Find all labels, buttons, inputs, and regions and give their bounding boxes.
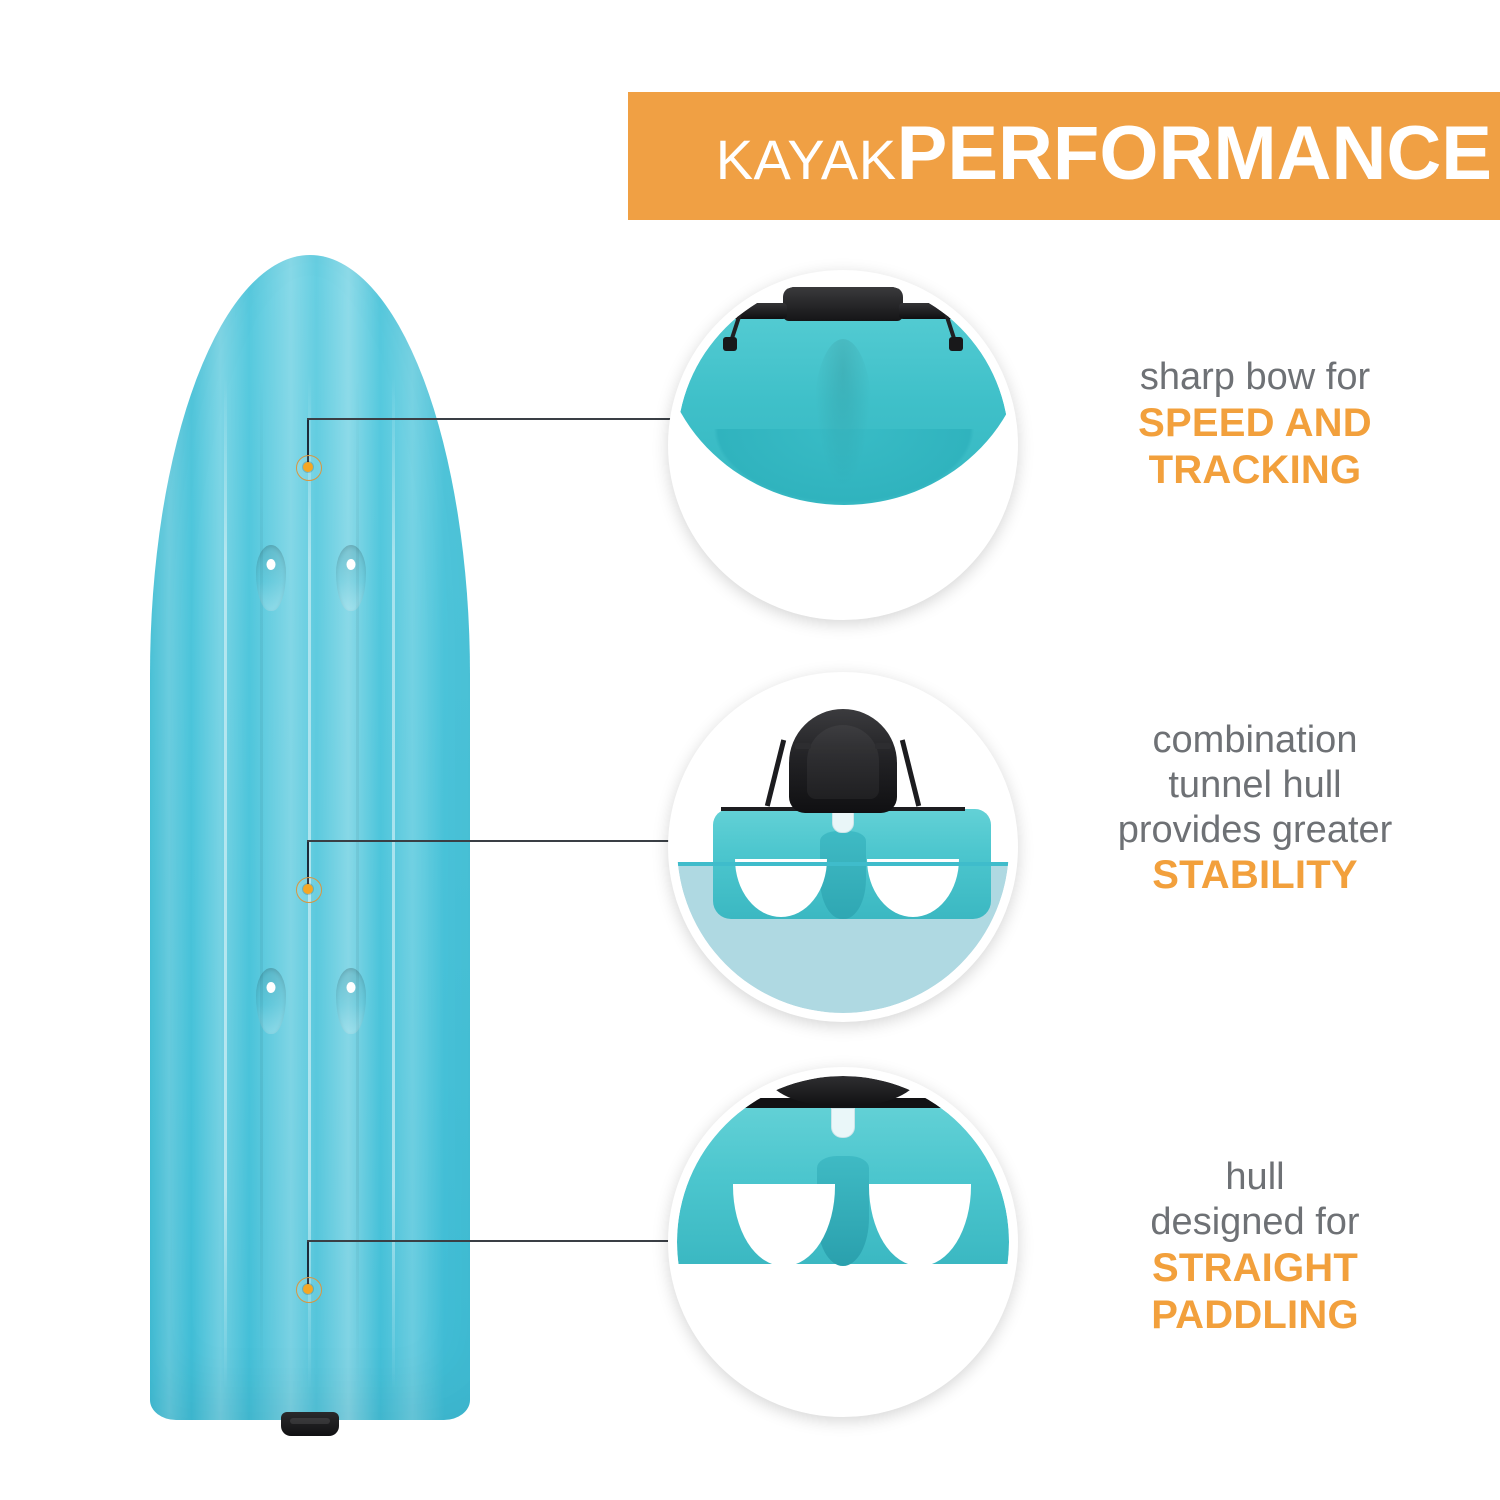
seat-strap-right <box>900 739 921 806</box>
marker-dot-1[interactable] <box>303 462 313 472</box>
detail-circle-bow[interactable] <box>668 270 1018 620</box>
callout-3-normal-line1: hull <box>1090 1155 1420 1200</box>
detail-circle-bow-image <box>677 279 1009 611</box>
callout-1-emph-line2: TRACKING <box>1090 447 1420 494</box>
detail-circle-stern-image <box>677 1076 1009 1408</box>
kayak-illustration <box>120 255 500 1445</box>
callout-1-normal: sharp bow for <box>1090 355 1420 400</box>
callout-2-emph-line1: STABILITY <box>1090 852 1420 899</box>
hull-ridge-left-shade <box>260 375 263 1390</box>
detail-circle-stern[interactable] <box>668 1067 1018 1417</box>
stern-drain-plug <box>831 1108 855 1138</box>
title-word-kayak: KAYAK <box>716 128 897 191</box>
callout-stability: combination tunnel hull provides greater… <box>1090 718 1420 900</box>
header-banner: KAYAKPERFORMANCE <box>628 92 1500 220</box>
scupper-hole-bow-right <box>336 545 366 611</box>
infographic-canvas: KAYAKPERFORMANCE <box>0 0 1500 1500</box>
bow-seat-back <box>783 287 903 321</box>
seat-strap-left <box>765 739 786 806</box>
bow-buckle-right <box>949 337 963 351</box>
scupper-hole-stern-right <box>336 968 366 1034</box>
bow-seat-wing-right <box>899 303 971 319</box>
hull-ridge-left <box>224 375 227 1390</box>
kayak-hull-body <box>150 255 470 1420</box>
callout-3-emph-line1: STRAIGHT <box>1090 1245 1420 1292</box>
waterline-indicator <box>677 862 1009 866</box>
scupper-hole-stern-left <box>256 968 286 1034</box>
seat-clip-right <box>875 743 891 749</box>
detail-circle-tunnel-hull-image <box>677 681 1009 1013</box>
bow-keel-shadow <box>814 339 872 489</box>
leader-horizontal-segment <box>307 418 685 420</box>
stern-carry-handle <box>281 1412 339 1436</box>
detail-circle-tunnel-hull[interactable] <box>668 672 1018 1022</box>
marker-dot-3[interactable] <box>303 1284 313 1294</box>
hull-ridge-right <box>392 375 395 1390</box>
callout-straight-paddling: hull designed for STRAIGHT PADDLING <box>1090 1155 1420 1339</box>
hull-ridge-right-shade <box>356 375 359 1390</box>
seat-clip-left <box>795 743 811 749</box>
bow-seat-wing-left <box>715 303 787 319</box>
callout-2-normal-line2: tunnel hull <box>1090 763 1420 808</box>
callout-speed-and-tracking: sharp bow for SPEED AND TRACKING <box>1090 355 1420 494</box>
marker-dot-2[interactable] <box>303 884 313 894</box>
scupper-hole-bow-left <box>256 545 286 611</box>
title-word-performance: PERFORMANCE <box>897 111 1492 196</box>
callout-3-normal-line2: designed for <box>1090 1200 1420 1245</box>
page-title: KAYAKPERFORMANCE <box>716 116 1492 196</box>
leader-horizontal-segment <box>307 840 685 842</box>
leader-horizontal-segment <box>307 1240 685 1242</box>
kayak-seat-back <box>789 709 897 813</box>
callout-2-normal-line3: provides greater <box>1090 808 1420 853</box>
bow-buckle-left <box>723 337 737 351</box>
callout-1-emph-line1: SPEED AND <box>1090 400 1420 447</box>
callout-2-normal-line1: combination <box>1090 718 1420 763</box>
callout-3-emph-line2: PADDLING <box>1090 1292 1420 1339</box>
tunnel-hull-center-keel <box>820 831 866 919</box>
